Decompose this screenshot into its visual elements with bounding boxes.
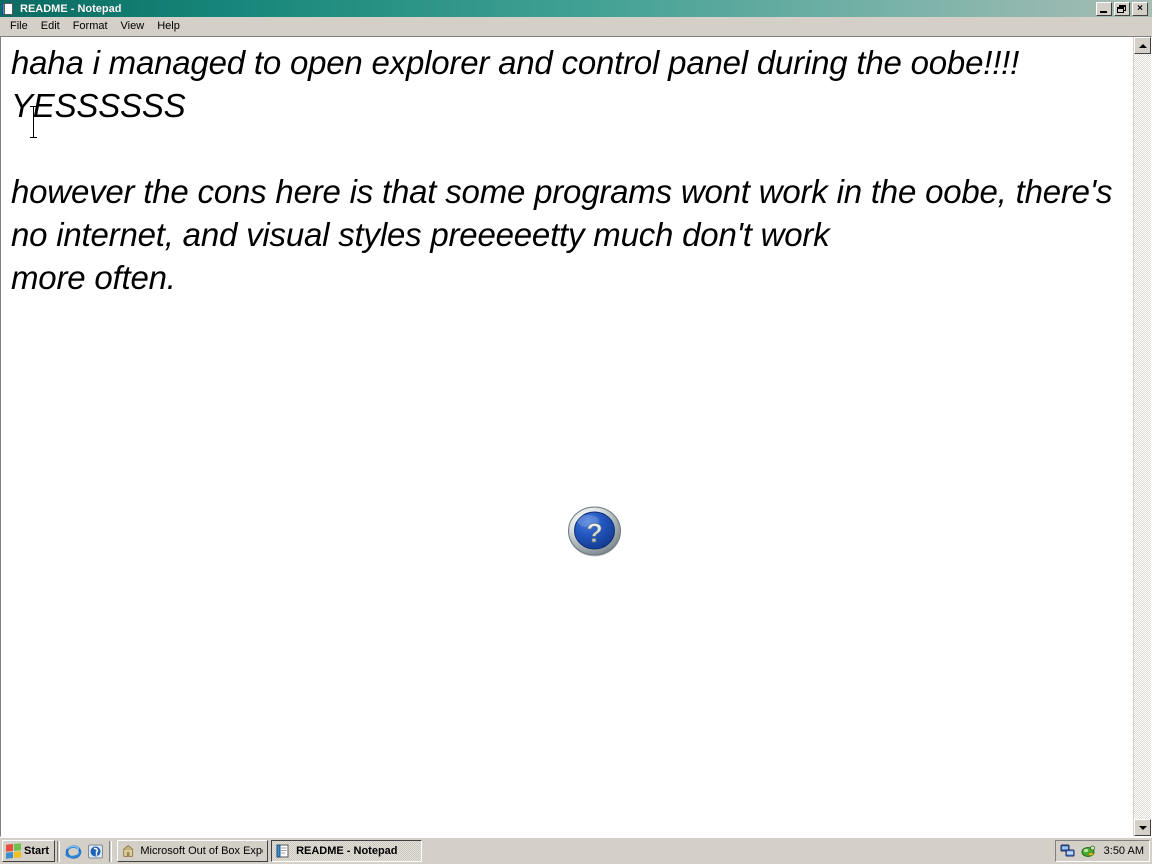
- notepad-window: README - Notepad × File Edit Format View…: [0, 0, 1152, 837]
- text-caret: [33, 106, 34, 138]
- minimize-button[interactable]: [1096, 2, 1112, 16]
- scrollbar-track[interactable]: [1134, 54, 1151, 819]
- vertical-scrollbar[interactable]: [1133, 37, 1151, 836]
- caption-button-group: ×: [1096, 2, 1151, 16]
- notepad-document-icon: [2, 2, 16, 16]
- menu-item-help[interactable]: Help: [151, 18, 187, 34]
- start-button-label: Start: [24, 845, 49, 857]
- task-button-group: Microsoft Out of Box Expe... README - No…: [117, 840, 1055, 862]
- svg-text:?: ?: [586, 518, 603, 548]
- taskbar: Start Microsof: [0, 837, 1152, 864]
- task-button-readme-notepad[interactable]: README - Notepad: [271, 840, 422, 862]
- menu-item-view[interactable]: View: [115, 18, 152, 34]
- task-button-oobe[interactable]: Microsoft Out of Box Expe...: [117, 840, 268, 862]
- outlook-express-icon[interactable]: [87, 843, 104, 860]
- window-title: README - Notepad: [20, 3, 1096, 15]
- restore-icon-front: [1117, 7, 1124, 13]
- menu-item-format[interactable]: Format: [67, 18, 115, 34]
- volume-speaker-icon[interactable]: [1080, 843, 1096, 859]
- start-button[interactable]: Start: [2, 840, 55, 862]
- scroll-up-arrow-icon: [1139, 44, 1147, 48]
- task-button-oobe-label: Microsoft Out of Box Expe...: [140, 845, 263, 857]
- menu-item-file[interactable]: File: [4, 18, 35, 34]
- minimize-icon: [1100, 11, 1107, 13]
- internet-explorer-icon[interactable]: [65, 843, 82, 860]
- editor-area: haha i managed to open explorer and cont…: [0, 36, 1152, 837]
- network-connection-icon[interactable]: [1060, 843, 1076, 859]
- task-button-readme-label: README - Notepad: [296, 845, 397, 857]
- taskbar-separator-2: [109, 841, 112, 862]
- oobe-icon: [121, 843, 135, 859]
- document-text: haha i managed to open explorer and cont…: [11, 41, 1127, 299]
- close-icon: ×: [1137, 4, 1143, 14]
- windows-flag-icon: [6, 843, 21, 859]
- menu-item-edit[interactable]: Edit: [35, 18, 67, 34]
- quick-launch-bar: [62, 843, 107, 860]
- restore-button[interactable]: [1114, 2, 1130, 16]
- taskbar-separator-1: [57, 841, 60, 862]
- text-editor[interactable]: haha i managed to open explorer and cont…: [1, 37, 1133, 836]
- notepad-document-icon: [275, 843, 291, 859]
- help-select-cursor: ?: [567, 504, 622, 558]
- system-tray: 3:50 AM: [1055, 840, 1150, 862]
- title-bar[interactable]: README - Notepad ×: [0, 0, 1152, 17]
- taskbar-clock[interactable]: 3:50 AM: [1100, 845, 1144, 857]
- menu-bar: File Edit Format View Help: [0, 17, 1152, 36]
- close-button[interactable]: ×: [1132, 2, 1148, 16]
- scroll-down-button[interactable]: [1134, 819, 1151, 836]
- scroll-down-arrow-icon: [1139, 826, 1147, 830]
- scroll-up-button[interactable]: [1134, 37, 1151, 54]
